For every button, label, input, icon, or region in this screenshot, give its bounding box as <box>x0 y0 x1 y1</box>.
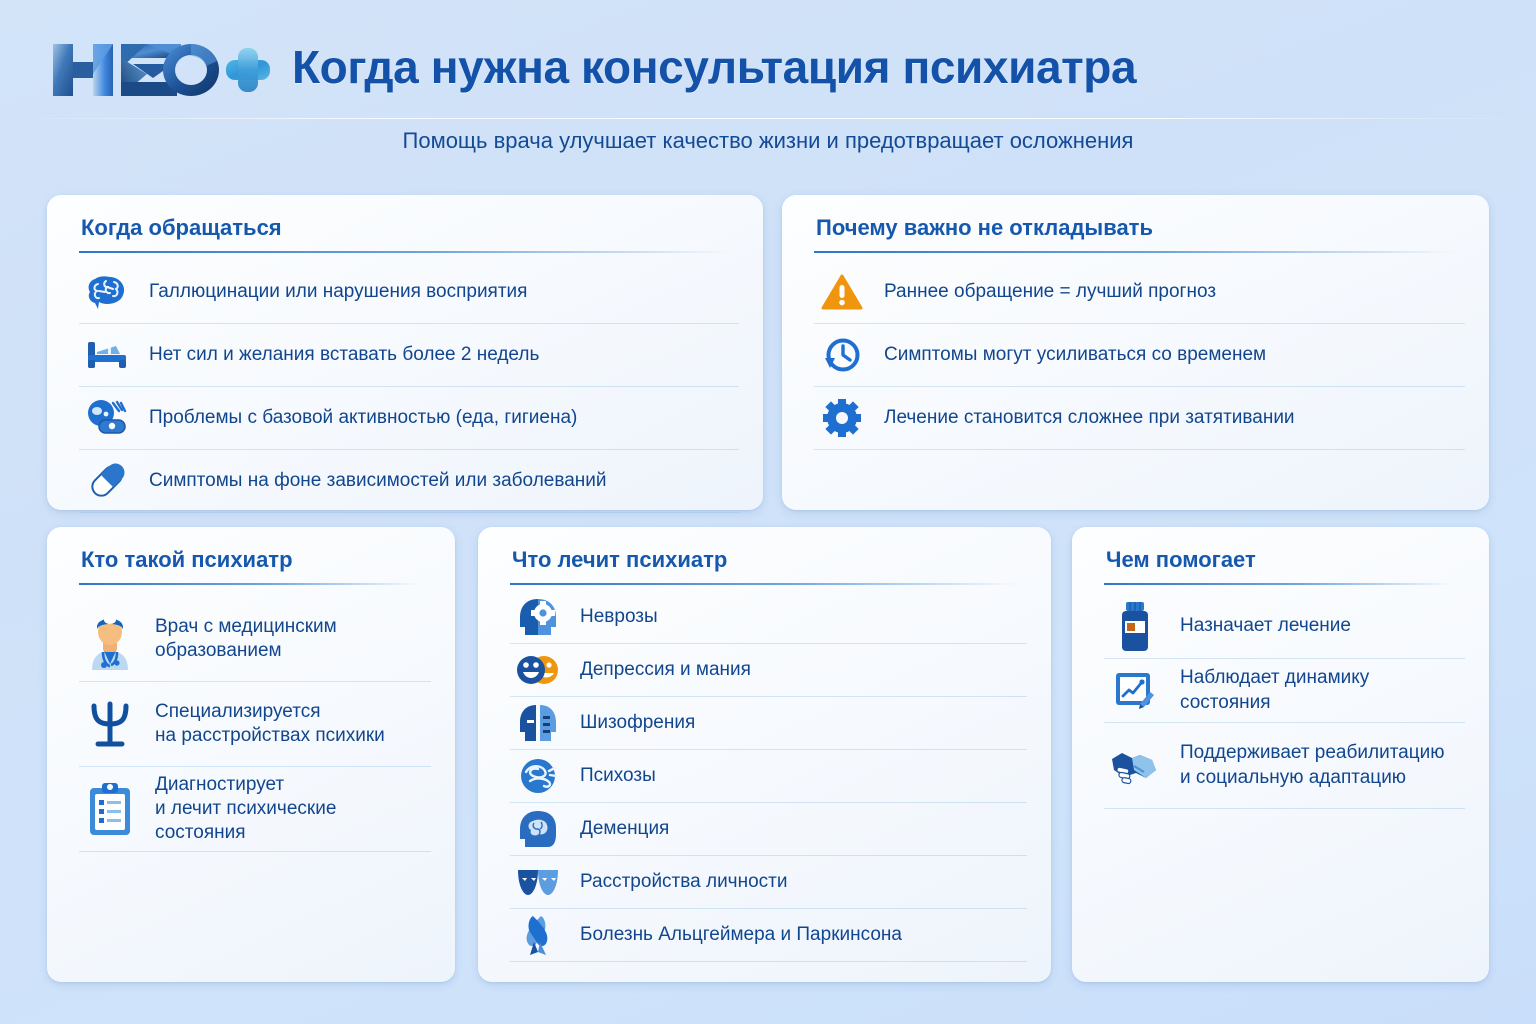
card-title-underline <box>814 251 1455 253</box>
list-item[interactable]: Психозы <box>510 750 1027 803</box>
list-item[interactable]: Нет сил и желания вставать более 2 недел… <box>79 324 739 387</box>
card-item-list: Раннее обращение = лучший прогноз Симпто… <box>814 261 1465 450</box>
label-line-2: и лечит психические состояния <box>155 797 431 845</box>
list-item-label: Проблемы с базовой активностью (еда, гиг… <box>135 406 577 430</box>
head-gear-icon <box>510 596 566 638</box>
card-item-list: Врач с медицинским образованием Специали… <box>79 597 431 852</box>
card-how-it-helps: Чем помогает Назначает лечение <box>1072 527 1489 982</box>
list-item[interactable]: Диагностирует и лечит психические состоя… <box>79 767 431 852</box>
brain-icon <box>79 273 135 311</box>
list-item[interactable]: Деменция <box>510 803 1027 856</box>
list-item-label: Шизофрения <box>566 711 695 735</box>
card-title-underline <box>510 583 1017 585</box>
page-subtitle: Помощь врача улучшает качество жизни и п… <box>0 128 1536 154</box>
warning-triangle-icon <box>814 274 870 310</box>
list-item-label: Врач с медицинским образованием <box>141 615 337 663</box>
clock-icon <box>814 336 870 374</box>
chart-monitor-icon <box>1104 669 1166 713</box>
neo-plus-logo <box>47 34 272 106</box>
card-title: Почему важно не откладывать <box>816 215 1153 241</box>
list-item-label: Расстройства личности <box>566 870 787 894</box>
card-title-underline <box>79 251 729 253</box>
list-item-label: Галлюцинации или нарушения восприятия <box>135 280 527 304</box>
list-item-label: Специализируется на расстройствах психик… <box>141 700 385 748</box>
list-item-label: Симптомы могут усиливаться со временем <box>870 343 1266 367</box>
head-brain-icon <box>510 808 566 850</box>
page-title: Когда нужна консультация психиатра <box>292 40 1136 94</box>
list-item[interactable]: Лечение становится сложнее при затятиван… <box>814 387 1465 450</box>
pill-capsule-icon <box>79 461 135 501</box>
card-why-not-delay: Почему важно не откладывать Раннее обращ… <box>782 195 1489 510</box>
page-header: Когда нужна консультация психиатра Помощ… <box>0 0 1536 175</box>
card-when-to-seek-help: Когда обращаться Галлюцинации или наруше… <box>47 195 763 510</box>
list-item-label: Раннее обращение = лучший прогноз <box>870 280 1216 304</box>
list-item-label: Назначает лечение <box>1166 614 1351 638</box>
list-item[interactable]: Проблемы с базовой активностью (еда, гиг… <box>79 387 739 450</box>
card-who-is-psychiatrist: Кто такой психиатр Врач с медиц <box>47 527 455 982</box>
list-item-label: Болезнь Альцгеймера и Паркинсона <box>566 923 902 947</box>
list-item[interactable]: Галлюцинации или нарушения восприятия <box>79 261 739 324</box>
logo-plus-icon <box>226 48 270 92</box>
card-title-underline <box>1104 583 1455 585</box>
logo-letter-h <box>53 44 113 96</box>
list-item[interactable]: Симптомы могут усиливаться со временем <box>814 324 1465 387</box>
tangled-mind-icon <box>510 757 566 795</box>
doctor-icon <box>79 608 141 670</box>
list-item[interactable]: Депрессия и мания <box>510 644 1027 697</box>
split-head-icon <box>510 702 566 744</box>
card-title: Что лечит психиатр <box>512 547 727 573</box>
list-item[interactable]: Болезнь Альцгеймера и Паркинсона <box>510 909 1027 962</box>
list-item[interactable]: Назначает лечение <box>1104 595 1465 659</box>
bed-icon <box>79 338 135 372</box>
list-item-label: Поддерживает реабилитацию и социальную а… <box>1166 741 1445 789</box>
list-item-label: Симптомы на фоне зависимостей или заболе… <box>135 469 607 493</box>
list-item[interactable]: Наблюдает динамику состояния <box>1104 659 1465 723</box>
list-item[interactable]: Врач с медицинским образованием <box>79 597 431 682</box>
handshake-icon <box>1104 746 1166 786</box>
card-title-underline <box>79 583 421 585</box>
card-item-list: Назначает лечение Наблюдает динамику сос… <box>1104 595 1465 809</box>
card-item-list: Галлюцинации или нарушения восприятия Не… <box>79 261 739 513</box>
logo-letter-o <box>163 44 219 96</box>
label-line-2: и социальную адаптацию <box>1180 766 1445 790</box>
card-title: Когда обращаться <box>81 215 282 241</box>
label-line-2: образованием <box>155 639 337 663</box>
list-item[interactable]: Расстройства личности <box>510 856 1027 909</box>
psi-icon <box>79 698 141 750</box>
list-item[interactable]: Шизофрения <box>510 697 1027 750</box>
list-item-label: Деменция <box>566 817 669 841</box>
list-item[interactable]: Неврозы <box>510 591 1027 644</box>
label-line-1: Поддерживает реабилитацию <box>1180 741 1445 765</box>
list-item-label: Наблюдает динамику состояния <box>1166 666 1465 714</box>
list-item[interactable]: Специализируется на расстройствах психик… <box>79 682 431 767</box>
list-item-label: Нет сил и желания вставать более 2 недел… <box>135 343 539 367</box>
list-item-label: Диагностирует и лечит психические состоя… <box>141 773 431 845</box>
header-divider <box>0 118 1536 119</box>
two-faces-icon <box>510 653 566 687</box>
awareness-ribbon-icon <box>510 912 566 958</box>
plate-fork-icon <box>79 399 135 437</box>
clipboard-icon <box>79 781 141 837</box>
gear-icon <box>814 399 870 437</box>
list-item[interactable]: Симптомы на фоне зависимостей или заболе… <box>79 450 739 513</box>
theatre-masks-icon <box>510 865 566 899</box>
label-line-2: на расстройствах психики <box>155 724 385 748</box>
label-line-1: Диагностирует <box>155 773 431 797</box>
list-item[interactable]: Раннее обращение = лучший прогноз <box>814 261 1465 324</box>
card-item-list: Неврозы Депрессия и мания <box>510 591 1027 962</box>
label-line-1: Врач с медицинским <box>155 615 337 639</box>
list-item[interactable]: Поддерживает реабилитацию и социальную а… <box>1104 723 1465 809</box>
list-item-label: Лечение становится сложнее при затятиван… <box>870 406 1295 430</box>
card-title: Чем помогает <box>1106 547 1256 573</box>
label-line-1: Специализируется <box>155 700 385 724</box>
medicine-bottle-icon <box>1104 600 1166 654</box>
list-item-label: Неврозы <box>566 605 658 629</box>
card-title: Кто такой психиатр <box>81 547 293 573</box>
list-item-label: Психозы <box>566 764 656 788</box>
card-what-psychiatrist-treats: Что лечит психиатр Неврозы <box>478 527 1051 982</box>
list-item-label: Депрессия и мания <box>566 658 751 682</box>
